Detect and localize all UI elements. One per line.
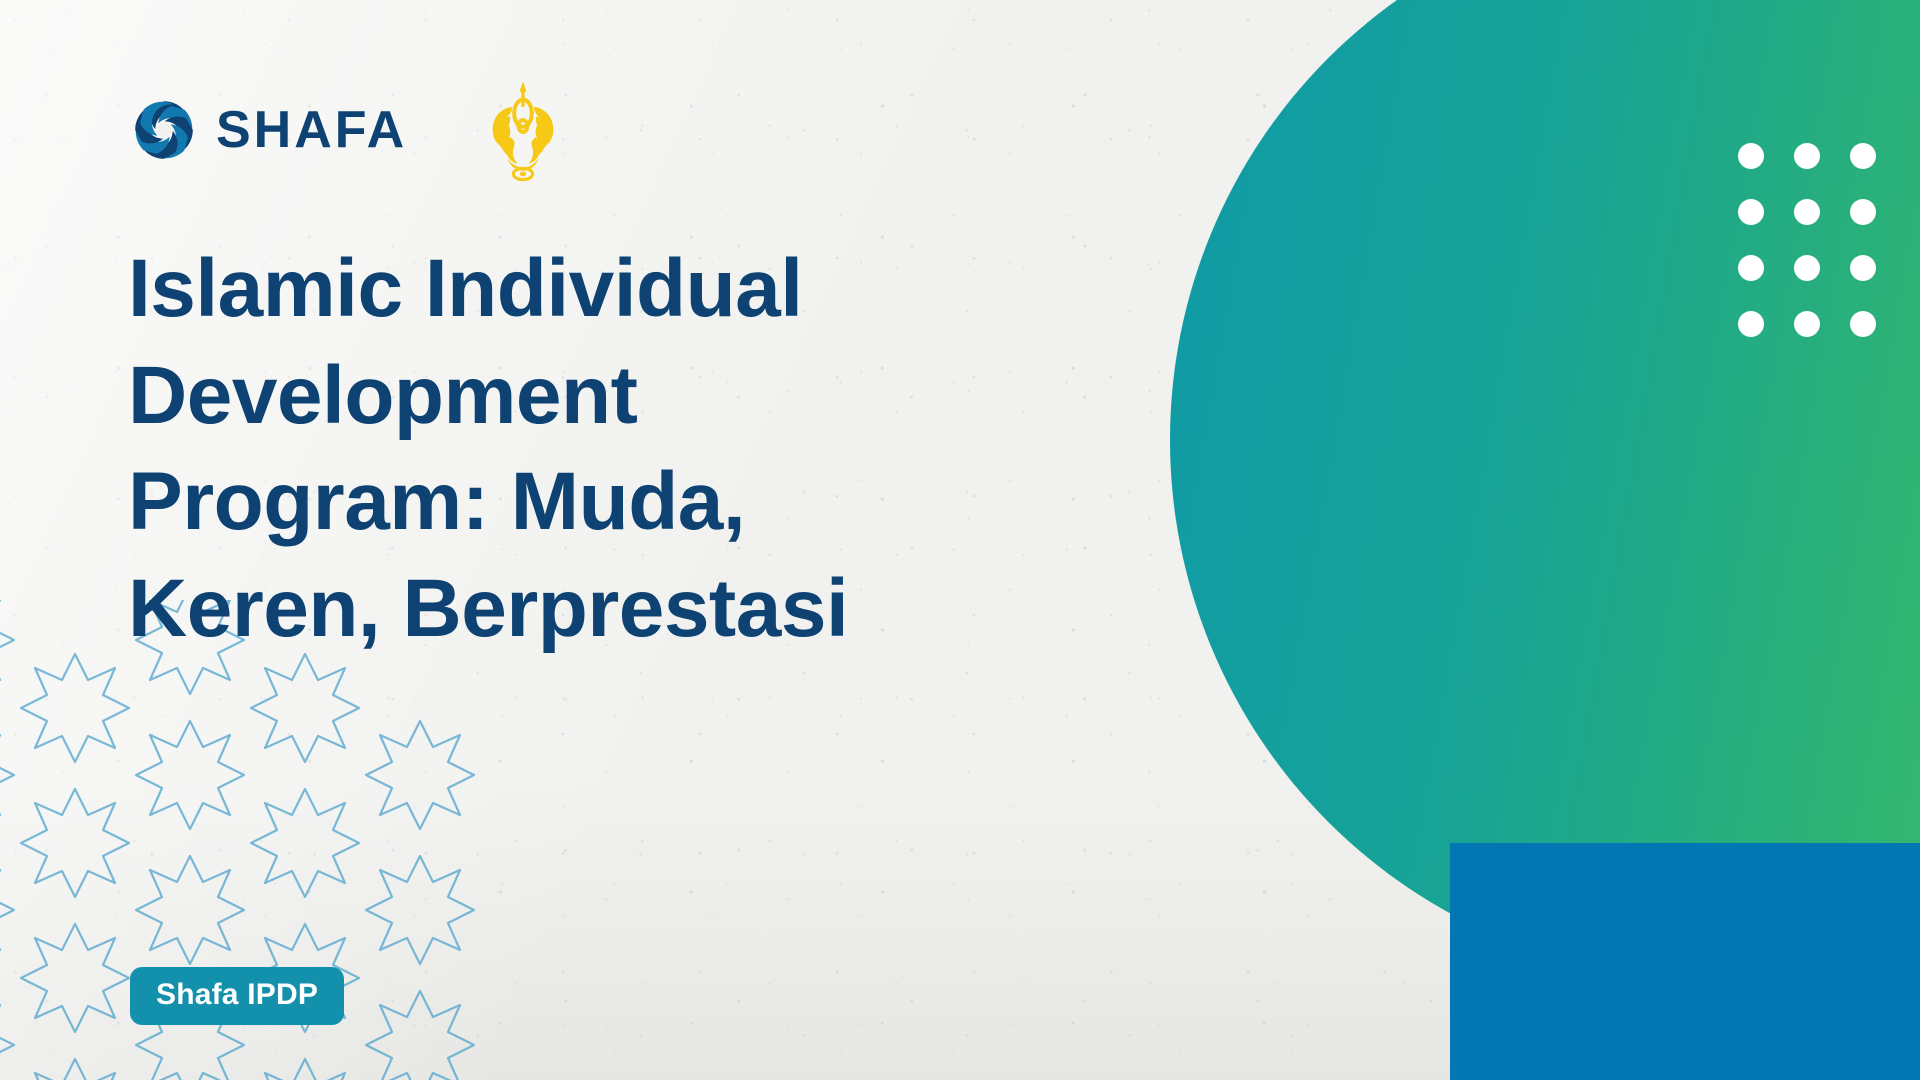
grid-dot [1738, 255, 1764, 281]
grid-dot [1738, 311, 1764, 337]
logo-row: SHAFA [128, 78, 571, 182]
grid-dot [1738, 199, 1764, 225]
grid-dot [1794, 199, 1820, 225]
swirl-pinwheel-icon [128, 94, 200, 166]
headline-line-1: Islamic Individual [128, 236, 1008, 343]
headline-line-2: Development [128, 343, 1008, 450]
universitas-indonesia-makara-icon [475, 78, 571, 182]
page-title: Islamic Individual Development Program: … [128, 236, 1008, 662]
grid-dot [1850, 199, 1876, 225]
grid-dot [1850, 311, 1876, 337]
blue-rectangle-decoration [1450, 843, 1920, 1080]
status-badge: Shafa IPDP [130, 967, 344, 1025]
grid-dot [1738, 143, 1764, 169]
grid-dot [1794, 255, 1820, 281]
shafa-logo-lockup: SHAFA [128, 94, 407, 166]
grid-dot [1794, 143, 1820, 169]
headline-line-3: Program: Muda, [128, 449, 1008, 556]
grid-dot [1850, 143, 1876, 169]
grid-dot [1850, 255, 1876, 281]
grid-dot [1794, 311, 1820, 337]
title-slide: SHAFA [0, 0, 1920, 1080]
headline-line-4: Keren, Berprestasi [128, 556, 1008, 663]
dot-grid-decoration [1738, 143, 1868, 323]
shafa-wordmark: SHAFA [216, 104, 407, 156]
